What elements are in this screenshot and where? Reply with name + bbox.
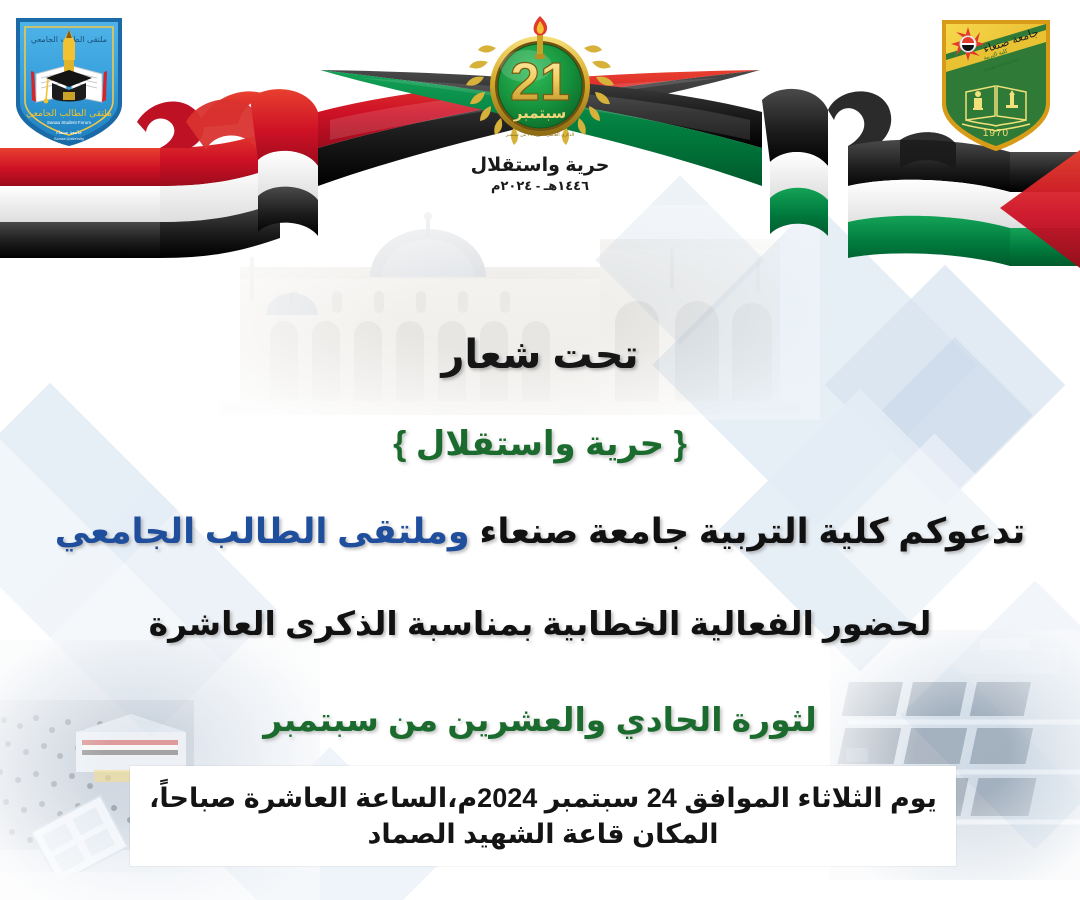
event-details-box: يوم الثلاثاء الموافق 24 سبتمبر 2024م،الس… bbox=[130, 766, 956, 866]
svg-text:Sanaa University: Sanaa University bbox=[54, 136, 84, 141]
quoted-slogan-heading: { حرية واستقلال } bbox=[0, 424, 1080, 464]
svg-text:1970: 1970 bbox=[983, 128, 1009, 139]
invitation-line: تدعوكم كلية التربية جامعة صنعاء وملتقى ا… bbox=[0, 512, 1080, 552]
invitation-text-black: تدعوكم كلية التربية جامعة صنعاء bbox=[479, 512, 1025, 551]
invitation-text-blue: وملتقى الطالب الجامعي bbox=[55, 512, 470, 551]
svg-text:ملتقى الطالب الجامعي: ملتقى الطالب الجامعي bbox=[26, 109, 112, 119]
september-21-emblem: 21 سبتمبر الذكرى العاشرة لثورة ٢١ من سبت… bbox=[452, 8, 628, 156]
emblem-number: 21 bbox=[510, 52, 570, 112]
emblem-slogan-text: حرية واستقلال bbox=[430, 155, 650, 177]
emblem-years-text: ١٤٤٦هـ - ٢٠٢٤م bbox=[430, 179, 650, 194]
emblem-arc-text: الذكرى العاشرة لثورة ٢١ من سبتمبر bbox=[505, 132, 574, 138]
event-date-time: يوم الثلاثاء الموافق 24 سبتمبر 2024م،الس… bbox=[149, 780, 937, 816]
sanaa-university-logo: جامعة صنعاء كلية التربية Faculty of Educ… bbox=[932, 8, 1060, 156]
svg-text:Sanaa Student Forum: Sanaa Student Forum bbox=[47, 120, 91, 125]
emblem-caption: حرية واستقلال ١٤٤٦هـ - ٢٠٢٤م bbox=[430, 155, 650, 194]
revolution-line: لثورة الحادي والعشرين من سبتمبر bbox=[0, 700, 1080, 739]
student-forum-logo: ملتقى الطالب الجامعي bbox=[8, 8, 130, 150]
event-venue: المكان قاعة الشهيد الصماد bbox=[368, 816, 719, 852]
event-poster: ملتقى الطالب الجامعي bbox=[0, 0, 1080, 900]
event-description-line: لحضور الفعالية الخطابية بمناسبة الذكرى ا… bbox=[0, 604, 1080, 643]
emblem-month: سبتمبر bbox=[513, 104, 567, 122]
under-slogan-heading: تحت شعار bbox=[0, 332, 1080, 378]
